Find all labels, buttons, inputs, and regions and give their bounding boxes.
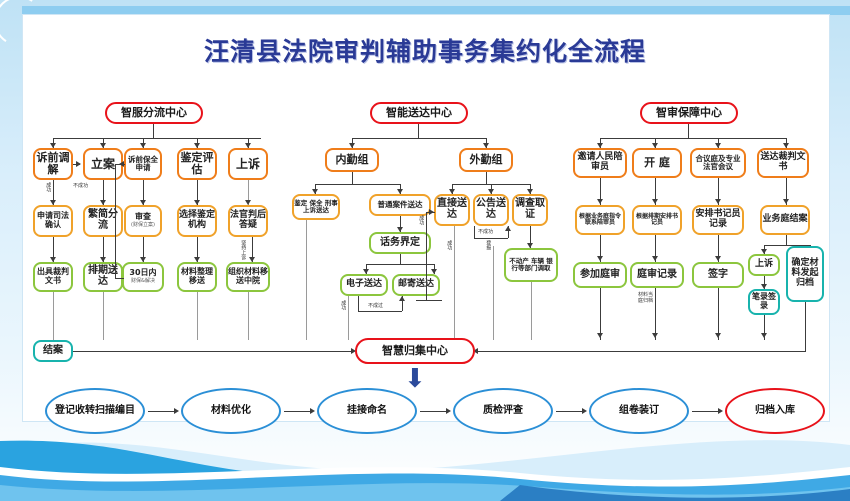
- conn-diaocha-collect: [531, 282, 532, 340]
- node-30-days-label: 30日内: [129, 269, 156, 278]
- arrow-arch-4-5: [582, 408, 587, 414]
- node-shencha-sub: (财保立案): [131, 223, 155, 228]
- conn-l1-c: [53, 292, 54, 340]
- conn-zhijie-collect: [454, 226, 455, 340]
- node-sifa-queren[interactable]: 申请司法确认: [33, 205, 73, 237]
- node-kaiting[interactable]: 开 庭: [632, 148, 682, 178]
- conn-right-hub-down: [688, 124, 689, 138]
- arrow-arch-2-3: [310, 408, 315, 414]
- arrow-r3-b: [715, 256, 721, 261]
- conn-youji-success-h: [416, 300, 442, 301]
- conn-r4-e: [805, 302, 806, 351]
- node-shencha-label: 审查: [135, 213, 151, 222]
- edge-label-cailiao-guidang: 材料当庭归档: [638, 293, 654, 305]
- conn-huawu-bus: [366, 264, 434, 265]
- node-heyiting-huiyi[interactable]: 合议庭及专业法官会议: [690, 148, 746, 178]
- node-youji-songda[interactable]: 邮寄送达: [392, 274, 440, 296]
- archive-step-4[interactable]: 质检评查: [453, 388, 553, 434]
- node-anpai-shujiyuan-2[interactable]: 安排书记员记录: [692, 205, 744, 235]
- conn-r4-b: [786, 235, 787, 245]
- node-songda-caipan-wenshu[interactable]: 送达裁判文书: [757, 148, 809, 178]
- arrow-arch-3-4: [446, 408, 451, 414]
- poster-root: 汪清县法院审判辅助事务集约化全流程 智服分流中心 智能送达中心 智审保障中心 诉…: [0, 0, 850, 501]
- conn-right-bus: [600, 138, 786, 139]
- node-cailiao-yisong[interactable]: 材料整理移送: [177, 262, 217, 292]
- node-xuanze-jigou[interactable]: 选择鉴定机构: [177, 205, 217, 237]
- conn-dianzi-fail: [358, 311, 402, 312]
- node-fanjian-fenliu[interactable]: 繁简分流: [83, 205, 123, 237]
- conn-youji-success-v: [426, 212, 427, 300]
- arrow-r4-d: [761, 333, 767, 338]
- node-qianzi[interactable]: 签字: [692, 262, 744, 288]
- conn-l5-c: [248, 292, 249, 340]
- center-left[interactable]: 智服分流中心: [105, 102, 203, 124]
- arrow-arch-1-2: [174, 408, 179, 414]
- node-zuzhi-yisong[interactable]: 组织材料移送中院: [226, 262, 270, 292]
- node-susong-baoquan[interactable]: 诉前保全申请: [124, 148, 162, 180]
- arrow-r2-b: [652, 256, 658, 261]
- arrow-r1-a: [597, 199, 603, 204]
- edge-label-buchenggong: 不成功: [478, 230, 493, 235]
- node-waiqinzu[interactable]: 外勤组: [459, 148, 513, 172]
- node-jianding-baoquan-songda[interactable]: 鉴定 保全 刑事上诉送达: [292, 194, 340, 220]
- node-budongchan[interactable]: 不动产 车辆 银行等部门调取: [504, 248, 558, 282]
- edge-label-dengbao: 登报: [485, 240, 490, 250]
- conn-left-hub-down: [153, 124, 154, 138]
- node-diaocha-quzheng[interactable]: 调查取证: [512, 194, 548, 226]
- node-lianxi-peishenyuan[interactable]: 根据业务庭指令联系陪审员: [575, 205, 625, 235]
- node-jiean[interactable]: 结案: [33, 340, 73, 362]
- node-queding-guidang[interactable]: 确定材料发起归档: [786, 246, 824, 302]
- arrow-r2-c: [652, 333, 658, 338]
- node-shangsu[interactable]: 上诉: [228, 148, 268, 180]
- arrow-arch-5-6: [718, 408, 723, 414]
- conn-feedback-v: [115, 164, 116, 279]
- conn-gonggao-collect: [493, 246, 494, 340]
- center-right[interactable]: 智审保障中心: [640, 102, 738, 124]
- conn-mid-hub-down: [418, 124, 419, 138]
- edge-label-cheng-3: 成功: [418, 215, 423, 225]
- node-putong-anjian-songda[interactable]: 普通案件送达: [369, 194, 431, 216]
- conn-nq-down: [352, 172, 353, 184]
- conn-nq-bus: [315, 184, 400, 185]
- node-tingshen-jilu[interactable]: 庭审记录: [630, 262, 684, 288]
- arrow-r2-a: [652, 199, 658, 204]
- page-title: 汪清县法院审判辅助事务集约化全流程: [0, 32, 850, 68]
- node-shangsu-2[interactable]: 上诉: [748, 254, 780, 276]
- edge-label-cheng-2: 成功: [446, 240, 451, 250]
- archive-step-5[interactable]: 组卷装订: [589, 388, 689, 434]
- arrow-r3-a: [715, 199, 721, 204]
- node-shencha[interactable]: 审查 (财保立案): [124, 205, 162, 237]
- node-chuju-caipan[interactable]: 出具裁判文书: [33, 262, 73, 292]
- conn-wq-down: [486, 172, 487, 184]
- conn-jiean-to-collect: [73, 351, 353, 352]
- edge-label-cheng-1: 成功: [340, 300, 345, 310]
- node-gonggao-songda[interactable]: 公告送达: [473, 194, 509, 226]
- arrow-youji-success: [429, 209, 434, 215]
- conn-arch-2-3: [284, 411, 312, 412]
- node-30-days[interactable]: 30日内 财保&解决: [122, 262, 164, 292]
- conn-arch-4-5: [556, 411, 584, 412]
- node-huawu-jieding[interactable]: 话务界定: [369, 232, 431, 254]
- conn-tiaojie-lian: [73, 164, 80, 165]
- conn-gonggao-fail: [474, 238, 508, 239]
- conn-youji-fail: [402, 296, 403, 311]
- archive-step-1[interactable]: 登记收转扫描编目: [45, 388, 145, 434]
- conn-huawu-down: [400, 254, 401, 264]
- conn-gonggao-fail-v2: [508, 226, 509, 238]
- center-middle[interactable]: 智能送达中心: [370, 102, 468, 124]
- center-collect[interactable]: 智慧归集中心: [355, 338, 475, 364]
- conn-jianding-collect: [306, 220, 307, 340]
- node-anpai-shujiyuan-1[interactable]: 根据排期安排书记员: [632, 205, 682, 235]
- arrow-r1-c: [597, 333, 603, 338]
- conn-l4-c: [197, 292, 198, 340]
- edge-label-bucheng: 不成功: [73, 184, 88, 189]
- node-panhou-dayi[interactable]: 法官判后答疑: [228, 205, 268, 237]
- conn-mid-bus: [352, 138, 486, 139]
- conn-right-collect-bus: [477, 351, 806, 352]
- archive-step-2[interactable]: 材料优化: [181, 388, 281, 434]
- node-canjia-tingshen[interactable]: 参加庭审: [573, 262, 627, 288]
- arrow-r3-c: [715, 333, 721, 338]
- edge-label-buchengguo: 不成过: [368, 304, 383, 309]
- arrow-r1-b: [597, 256, 603, 261]
- node-30-days-sub: 财保&解决: [131, 279, 155, 284]
- edge-label-chenggong: 成功: [45, 182, 50, 192]
- conn-arch-3-4: [420, 411, 448, 412]
- conn-arch-1-2: [148, 411, 176, 412]
- conn-l2-c: [103, 292, 104, 340]
- down-arrow-to-archive: ⬇: [404, 366, 426, 392]
- conn-arch-5-6: [692, 411, 720, 412]
- arrow-r4-a: [783, 199, 789, 204]
- node-neiqinzu[interactable]: 内勤组: [325, 148, 379, 172]
- node-paiqi-songda[interactable]: 排期送达: [83, 262, 123, 292]
- edge-label-jianchi-shangsu: 坚持上诉: [240, 240, 245, 260]
- arrow-feedback: [119, 161, 124, 167]
- node-yaoqing-peishenyuan[interactable]: 邀请人民陪审员: [573, 148, 627, 178]
- node-susong-tiaojie[interactable]: 诉前调解: [33, 148, 73, 180]
- node-yewuting-jiean[interactable]: 业务庭结案: [760, 205, 810, 235]
- archive-step-3[interactable]: 挂接命名: [317, 388, 417, 434]
- conn-left-bus: [53, 138, 261, 139]
- conn-dianzi-fail-v: [358, 296, 359, 311]
- conn-gonggao-fail-v: [474, 226, 475, 238]
- node-jianding-pinggu[interactable]: 鉴定评估: [177, 148, 217, 180]
- archive-step-6[interactable]: 归档入库: [725, 388, 825, 434]
- node-zhijie-songda[interactable]: 直接送达: [434, 194, 470, 226]
- conn-dianzi-collect: [348, 296, 349, 340]
- node-dianzi-songda[interactable]: 电子送达: [340, 274, 388, 296]
- node-bilu-qianlu[interactable]: 笔录签录: [748, 289, 780, 315]
